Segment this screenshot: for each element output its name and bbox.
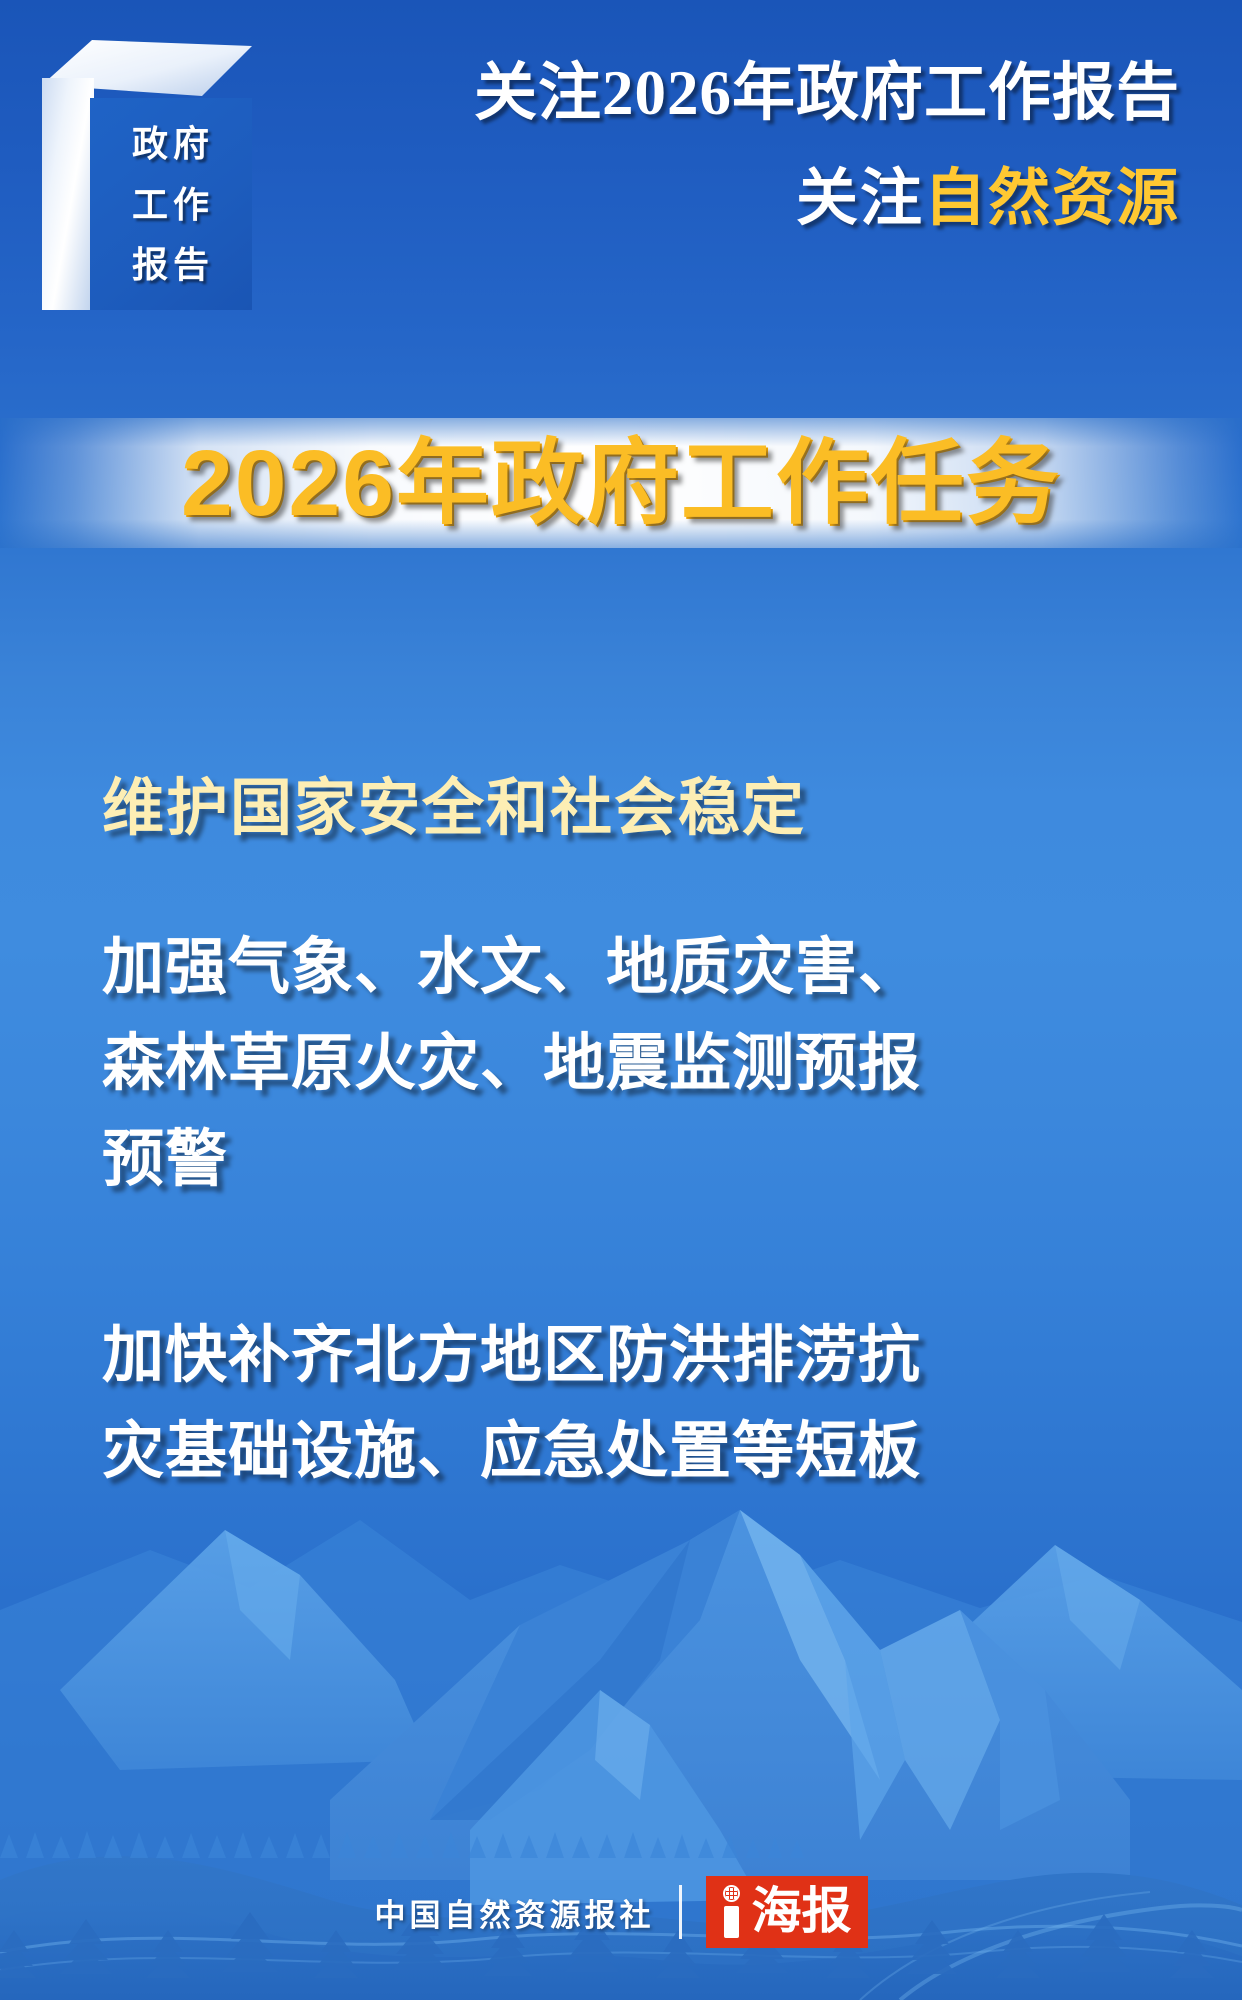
poster-footer: 中国自然资源报社 海报 (0, 1876, 1242, 1948)
header-title-line-2: 关注自然资源 (0, 168, 1180, 230)
header-title-line-2-prefix: 关注 (796, 164, 924, 233)
body-content: 维护国家安全和社会稳定 加强气象、水文、地质灾害、森林草原火灾、地震监测预报预警… (102, 610, 1162, 1500)
poster-root: 政府 工作 报告 关注2026年政府工作报告 关注自然资源 2026年政府工作任… (0, 0, 1242, 2000)
i-stem (724, 1906, 739, 1938)
i-globe-icon (719, 1884, 745, 1938)
book-label-line-1: 政府 (132, 126, 214, 162)
body-paragraph-2: 加快补齐北方地区防洪排涝抗灾基础设施、应急处置等短板 (102, 1308, 982, 1500)
main-title: 2026年政府工作任务 (0, 424, 1242, 542)
badge-label: 海报 (752, 1884, 852, 1938)
i-dot-globe (723, 1885, 740, 1902)
book-label-line-3: 报告 (132, 247, 214, 283)
poster-header: 政府 工作 报告 关注2026年政府工作报告 关注自然资源 (0, 0, 1242, 330)
header-title-line-2-highlight: 自然资源 (924, 164, 1180, 233)
ihaibao-badge[interactable]: 海报 (706, 1876, 868, 1948)
header-title-line-1: 关注2026年政府工作报告 (0, 62, 1180, 125)
publisher-name: 中国自然资源报社 (375, 1890, 655, 1935)
body-paragraph-1: 加强气象、水文、地质灾害、森林草原火灾、地震监测预报预警 (102, 920, 982, 1208)
footer-divider (679, 1885, 682, 1939)
section-subheading: 维护国家安全和社会稳定 (102, 770, 1162, 848)
